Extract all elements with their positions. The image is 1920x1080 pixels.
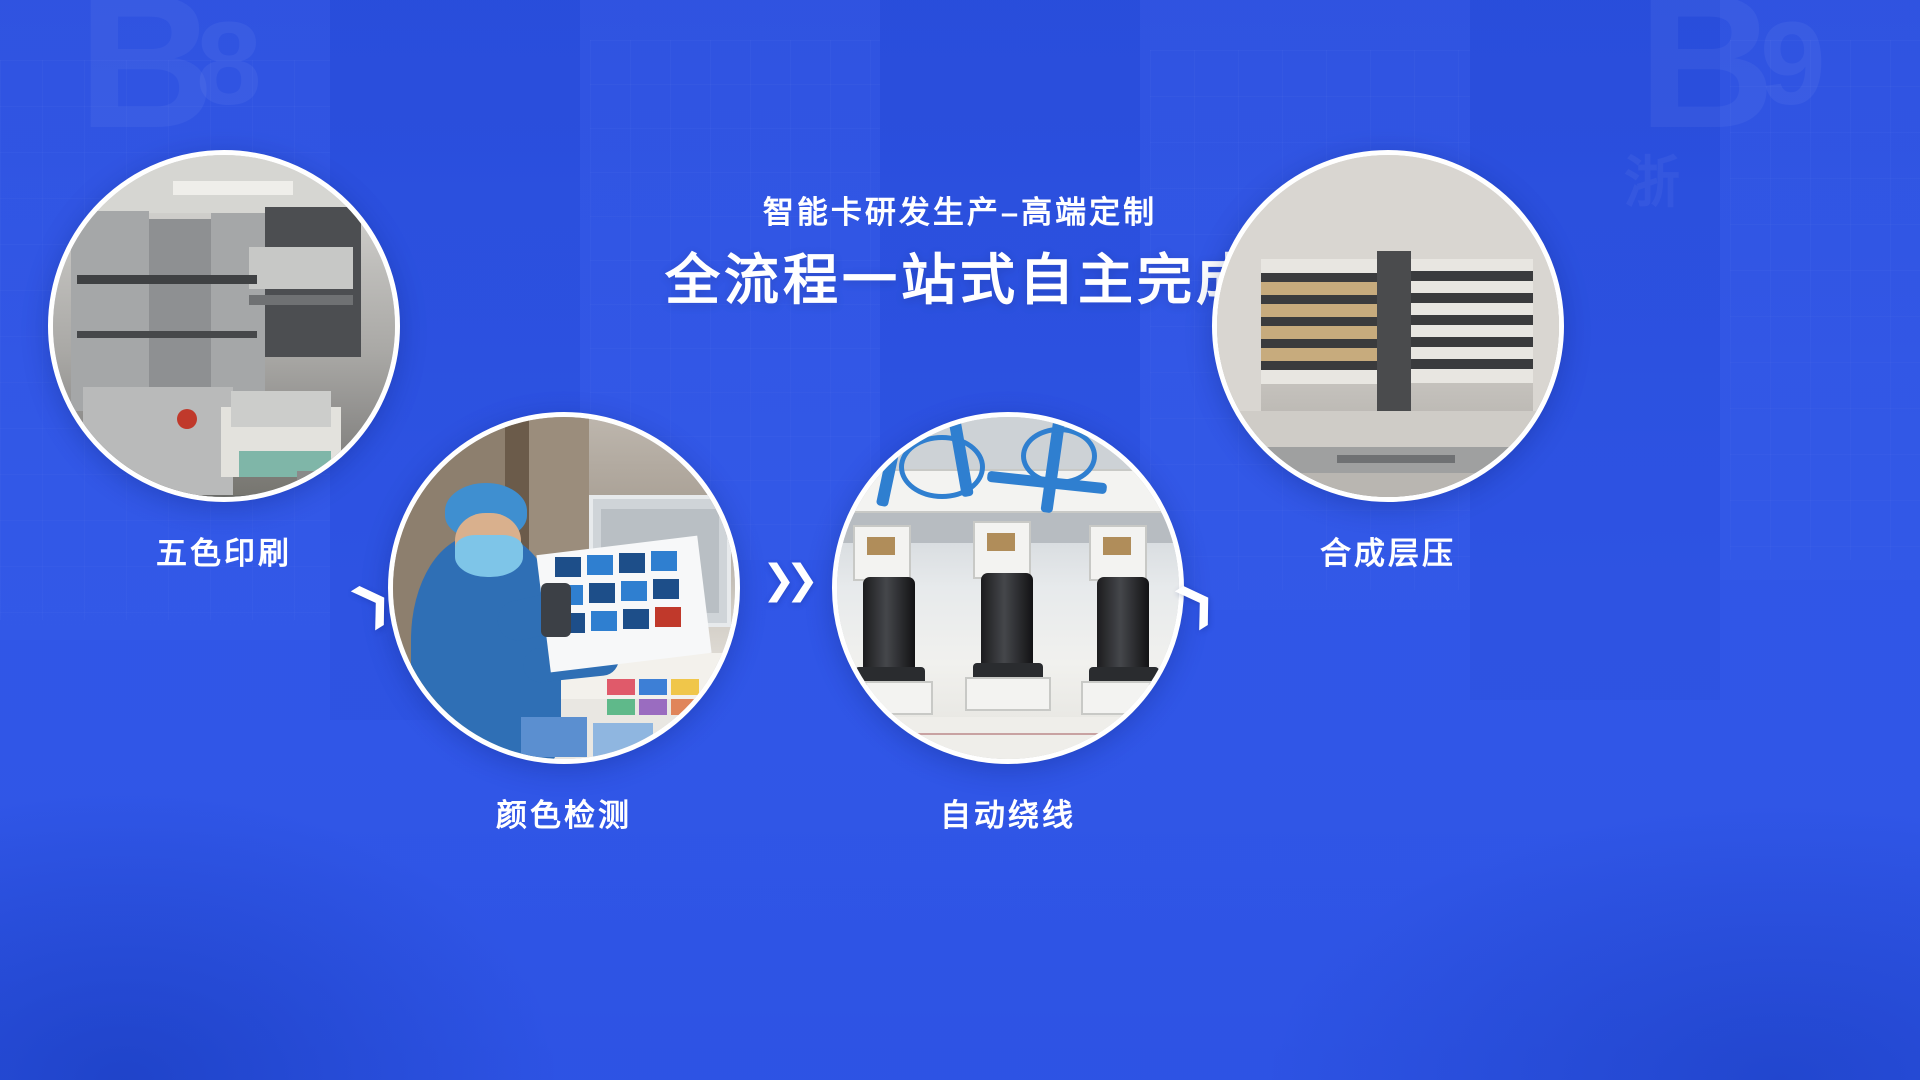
- step-1-caption: 五色印刷: [156, 528, 292, 573]
- step-2-caption: 颜色检测: [496, 790, 632, 835]
- process-step-2[interactable]: 颜色检测: [388, 412, 740, 764]
- arrow-step-2-to-3: ❯❯: [762, 560, 809, 600]
- lamination-press-image: [1217, 155, 1559, 497]
- process-step-1[interactable]: 五色印刷: [48, 150, 400, 502]
- step-1-photo: [48, 150, 400, 502]
- foliage-shadow-right: [1220, 780, 1920, 1080]
- color-inspection-image: [393, 417, 735, 759]
- step-4-caption: 合成层压: [1320, 528, 1456, 573]
- step-2-photo: [388, 412, 740, 764]
- coil-winding-image: [837, 417, 1179, 759]
- step-4-photo: [1212, 150, 1564, 502]
- step-3-caption: 自动绕线: [940, 790, 1076, 835]
- printing-press-image: [53, 155, 395, 497]
- process-step-3[interactable]: 自动绕线: [832, 412, 1184, 764]
- step-3-photo: [832, 412, 1184, 764]
- process-step-4[interactable]: 合成层压: [1212, 150, 1564, 502]
